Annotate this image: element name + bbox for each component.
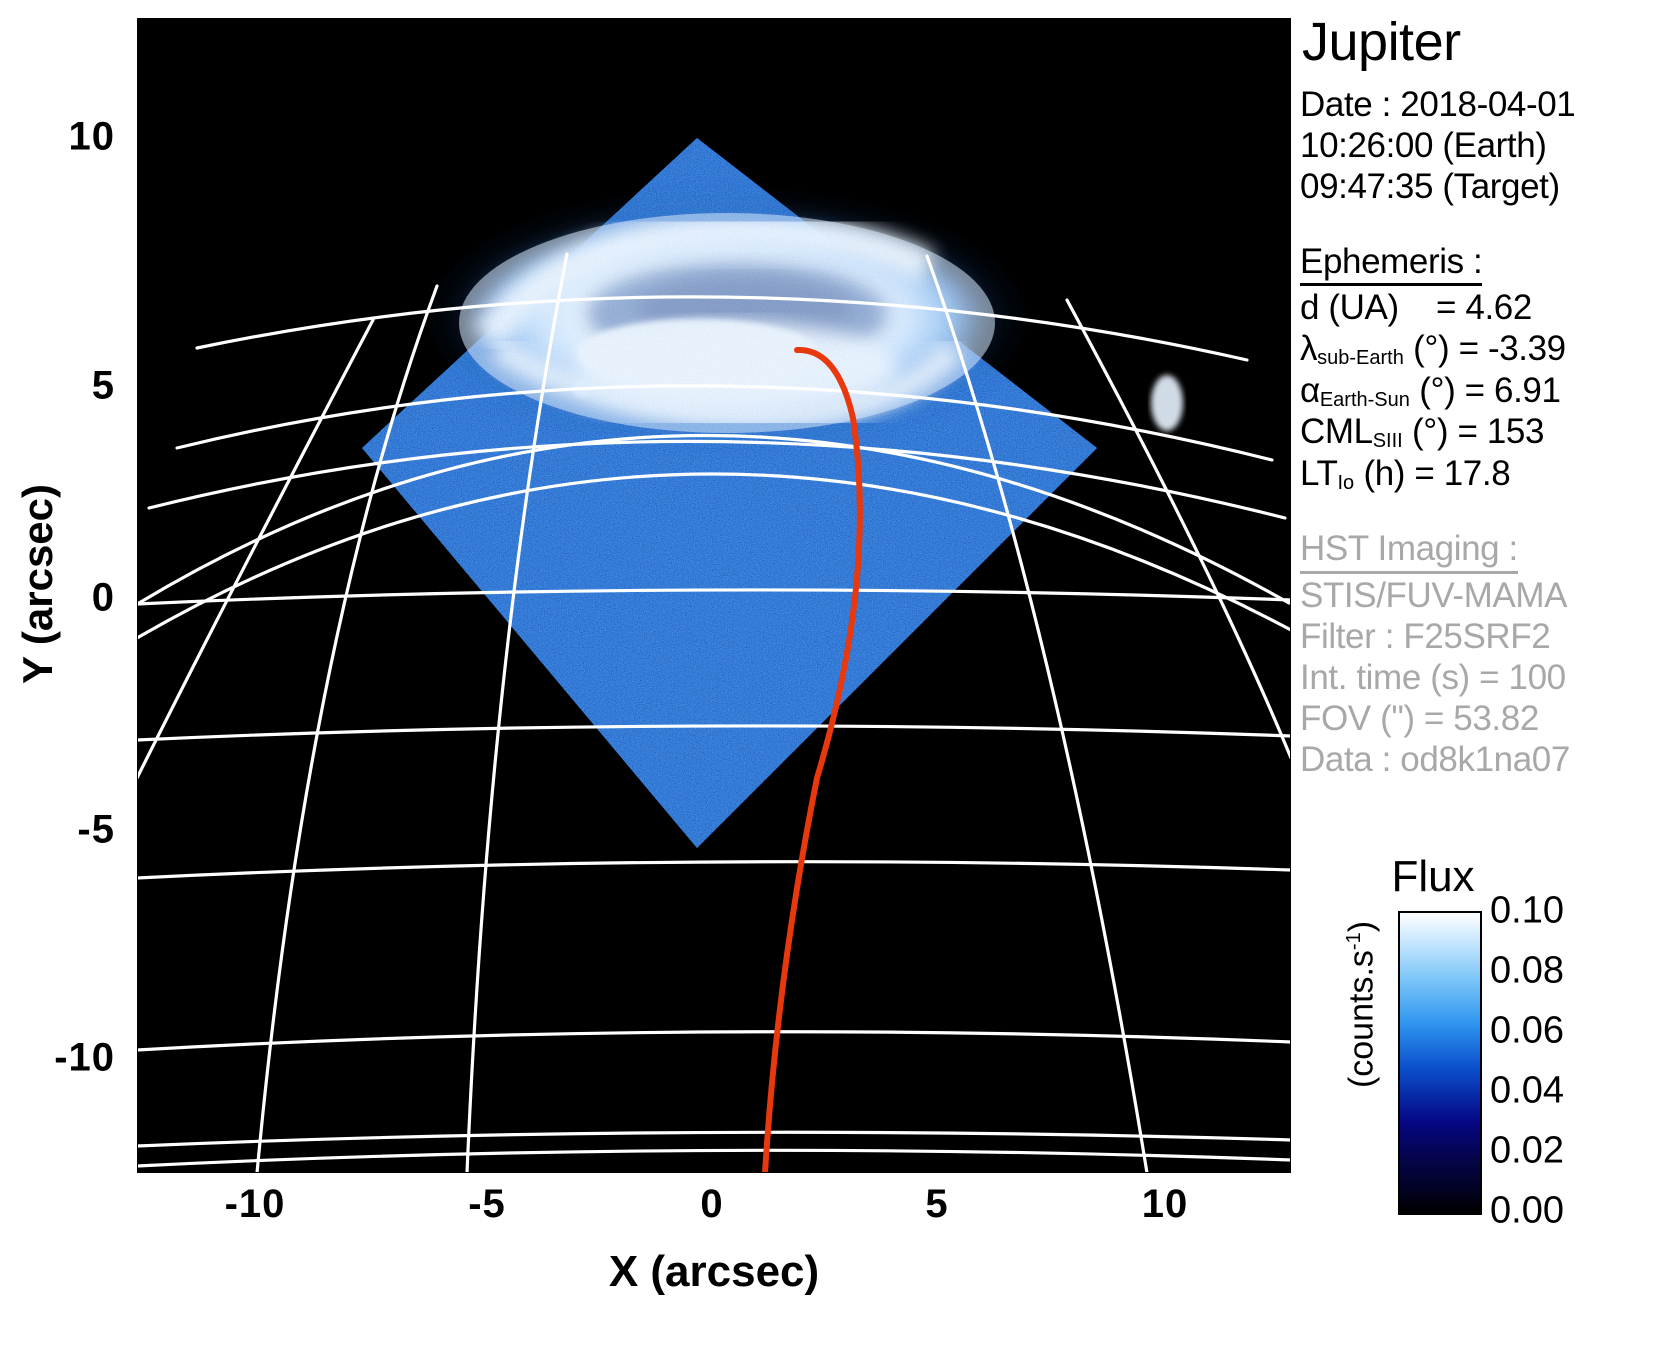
x-axis-label: X (arcsec) xyxy=(137,1247,1291,1297)
observation-earth-time: 10:26:00 (Earth) xyxy=(1300,126,1665,167)
spacer-2 xyxy=(1300,501,1665,529)
colorbar-gradient xyxy=(1398,911,1482,1215)
x-tick-5: 5 xyxy=(867,1182,1007,1227)
hst-heading: HST Imaging : xyxy=(1300,529,1665,576)
flux-colorbar: Flux 0.10 0.08 0.06 0.04 0.02 0.00 (coun… xyxy=(1330,855,1670,1205)
detached-aurora-patch xyxy=(1151,375,1183,431)
ephemeris-heading-text: Ephemeris : xyxy=(1300,242,1482,287)
distance-value: = 4.62 xyxy=(1436,288,1532,327)
colorbar-tick-004: 0.04 xyxy=(1490,1070,1564,1113)
lambda-unit: (°) xyxy=(1413,329,1449,368)
colorbar-unit-exponent: -1 xyxy=(1343,932,1365,950)
ephemeris-block: Ephemeris : d (UA) = 4.62 λsub-Earth (°)… xyxy=(1300,242,1665,495)
ephemeris-distance: d (UA) = 4.62 xyxy=(1300,288,1665,329)
y-axis-label: Y (arcsec) xyxy=(14,454,62,714)
page-title: Jupiter xyxy=(1302,14,1665,71)
lt-unit: (h) xyxy=(1363,454,1405,493)
colorbar-unit-label: (counts.s-1) xyxy=(1343,875,1382,1135)
y-tick-5: 5 xyxy=(5,364,115,409)
distance-label: d (UA) xyxy=(1300,288,1399,327)
hst-filter: Filter : F25SRF2 xyxy=(1300,617,1665,658)
spacer-1 xyxy=(1300,214,1665,242)
observation-date: Date : 2018-04-01 xyxy=(1300,85,1665,126)
lambda-value: = -3.39 xyxy=(1459,329,1566,368)
colorbar-tick-006: 0.06 xyxy=(1490,1010,1564,1053)
y-tick-neg5: -5 xyxy=(5,808,115,853)
alpha-unit: (°) xyxy=(1419,371,1455,410)
alpha-symbol: α xyxy=(1300,371,1320,410)
figure-root: 10 5 0 -5 -10 Y (arcsec) -10 -5 0 5 10 X… xyxy=(0,0,1671,1367)
jupiter-aurora-plot xyxy=(137,18,1291,1173)
colorbar-unit-pre: (counts.s xyxy=(1343,950,1381,1088)
y-tick-neg10: -10 xyxy=(5,1036,115,1081)
x-tick-0: 0 xyxy=(642,1182,782,1227)
cml-value: = 153 xyxy=(1457,412,1544,451)
hst-imaging-block: HST Imaging : STIS/FUV-MAMA Filter : F25… xyxy=(1300,529,1665,781)
colorbar-tick-002: 0.02 xyxy=(1490,1130,1564,1173)
hst-dataset-id: Data : od8k1na07 xyxy=(1300,740,1665,781)
y-tick-10: 10 xyxy=(5,115,115,160)
hst-heading-text: HST Imaging : xyxy=(1300,529,1518,574)
cml-subscript: SIII xyxy=(1373,430,1403,452)
ephemeris-heading: Ephemeris : xyxy=(1300,242,1665,289)
alpha-value: = 6.91 xyxy=(1465,371,1561,410)
x-tick-neg5: -5 xyxy=(417,1182,557,1227)
lt-subscript: Io xyxy=(1337,472,1354,494)
ephemeris-sub-earth-longitude: λsub-Earth (°) = -3.39 xyxy=(1300,329,1665,370)
observation-block: Date : 2018-04-01 10:26:00 (Earth) 09:47… xyxy=(1300,85,1665,208)
ephemeris-phase-angle: αEarth-Sun (°) = 6.91 xyxy=(1300,371,1665,412)
hst-int-time: Int. time (s) = 100 xyxy=(1300,658,1665,699)
cml-label: CML xyxy=(1300,412,1373,451)
colorbar-tick-labels: 0.10 0.08 0.06 0.04 0.02 0.00 xyxy=(1480,911,1660,1211)
lt-label: LT xyxy=(1300,454,1337,493)
ephemeris-cml: CMLSIII (°) = 153 xyxy=(1300,412,1665,453)
ephemeris-io-local-time: LTIo (h) = 17.8 xyxy=(1300,454,1665,495)
colorbar-tick-000: 0.00 xyxy=(1490,1190,1564,1233)
jupiter-image-panel xyxy=(137,18,1291,1173)
x-tick-10: 10 xyxy=(1095,1182,1235,1227)
lt-value: = 17.8 xyxy=(1414,454,1510,493)
alpha-subscript: Earth-Sun xyxy=(1320,389,1410,411)
observation-target-time: 09:47:35 (Target) xyxy=(1300,167,1665,208)
colorbar-tick-008: 0.08 xyxy=(1490,950,1564,993)
x-tick-neg10: -10 xyxy=(185,1182,325,1227)
cml-unit: (°) xyxy=(1412,412,1448,451)
hst-instrument: STIS/FUV-MAMA xyxy=(1300,576,1665,617)
colorbar-unit-post: ) xyxy=(1343,921,1381,932)
hst-fov: FOV (") = 53.82 xyxy=(1300,699,1665,740)
lambda-symbol: λ xyxy=(1300,329,1317,368)
info-panel: Jupiter Date : 2018-04-01 10:26:00 (Eart… xyxy=(1300,14,1665,787)
colorbar-tick-010: 0.10 xyxy=(1490,890,1564,933)
lambda-subscript: sub-Earth xyxy=(1317,347,1404,369)
